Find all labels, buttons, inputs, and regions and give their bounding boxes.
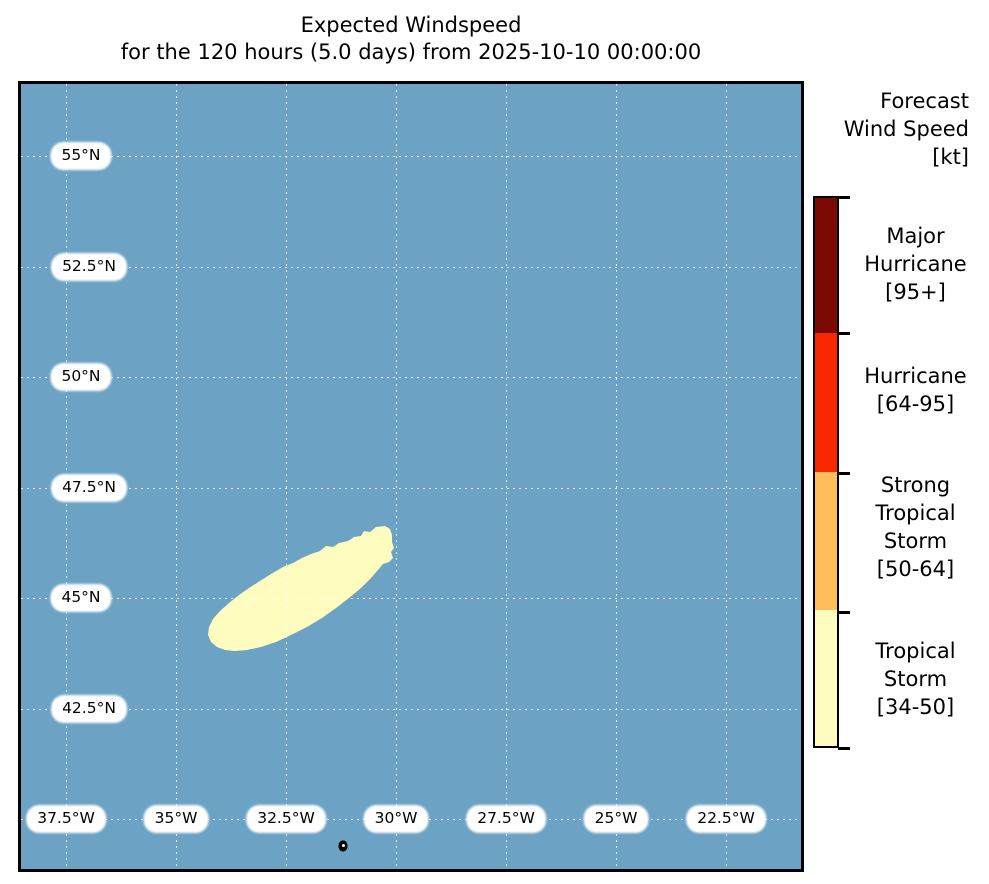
legend-label-strong-tropical-storm: Strong Tropical Storm [50-64] — [842, 471, 989, 583]
lon-tick-label-37_5: 37.5°W — [28, 807, 104, 831]
gridline-lon-25 — [616, 84, 617, 869]
colorbar-tick-50 — [838, 611, 850, 614]
lon-tick-label-25: 25°W — [586, 807, 647, 831]
legend-panel: Forecast Wind Speed [kt] Major Hurricane… — [812, 81, 989, 781]
gridline-lat-47_5 — [21, 488, 801, 489]
lon-tick-label-27_5: 27.5°W — [468, 807, 544, 831]
lon-tick-label-30: 30°W — [366, 807, 427, 831]
storm-position-marker-icon — [339, 841, 348, 852]
colorbar-tick-34 — [838, 747, 850, 750]
colorbar-segment-hurricane[interactable] — [815, 333, 837, 472]
map-panel[interactable]: 55°N 52.5°N 50°N 47.5°N 45°N 42.5°N 37.5… — [18, 81, 804, 872]
colorbar-segment-strong-tropical-storm[interactable] — [815, 472, 837, 610]
legend-label-tropical-storm: Tropical Storm [34-50] — [842, 637, 989, 721]
lon-tick-label-35: 35°W — [146, 807, 207, 831]
gridline-lat-52_5 — [21, 267, 801, 268]
legend-title: Forecast Wind Speed [kt] — [812, 87, 989, 171]
gridline-lon-32_5 — [286, 84, 287, 869]
legend-label-hurricane: Hurricane [64-95] — [842, 362, 989, 418]
lat-tick-label-42_5: 42.5°N — [53, 697, 125, 721]
colorbar-tick-top — [838, 196, 850, 199]
gridline-lat-50 — [21, 377, 801, 378]
lat-tick-label-55: 55°N — [52, 144, 109, 168]
colorbar-tick-95 — [838, 332, 850, 335]
gridline-lon-22_5 — [726, 84, 727, 869]
lat-tick-label-50: 50°N — [52, 365, 109, 389]
lon-tick-label-32_5: 32.5°W — [248, 807, 324, 831]
gridline-lon-35 — [176, 84, 177, 869]
colorbar[interactable] — [813, 196, 839, 748]
lat-tick-label-47_5: 47.5°N — [53, 476, 125, 500]
lat-tick-label-52_5: 52.5°N — [53, 255, 125, 279]
colorbar-segment-tropical-storm[interactable] — [815, 610, 837, 746]
gridline-lat-45 — [21, 598, 801, 599]
colorbar-segment-major-hurricane[interactable] — [815, 198, 837, 333]
gridline-lon-27_5 — [506, 84, 507, 869]
gridline-lat-42_5 — [21, 709, 801, 710]
legend-label-major-hurricane: Major Hurricane [95+] — [842, 222, 989, 306]
lat-tick-label-45: 45°N — [52, 586, 109, 610]
lon-tick-label-22_5: 22.5°W — [688, 807, 764, 831]
map-canvas — [21, 84, 801, 869]
gridline-lon-30 — [396, 84, 397, 869]
gridline-lat-55 — [21, 156, 801, 157]
page-title: Expected Windspeed for the 120 hours (5.… — [0, 12, 822, 66]
